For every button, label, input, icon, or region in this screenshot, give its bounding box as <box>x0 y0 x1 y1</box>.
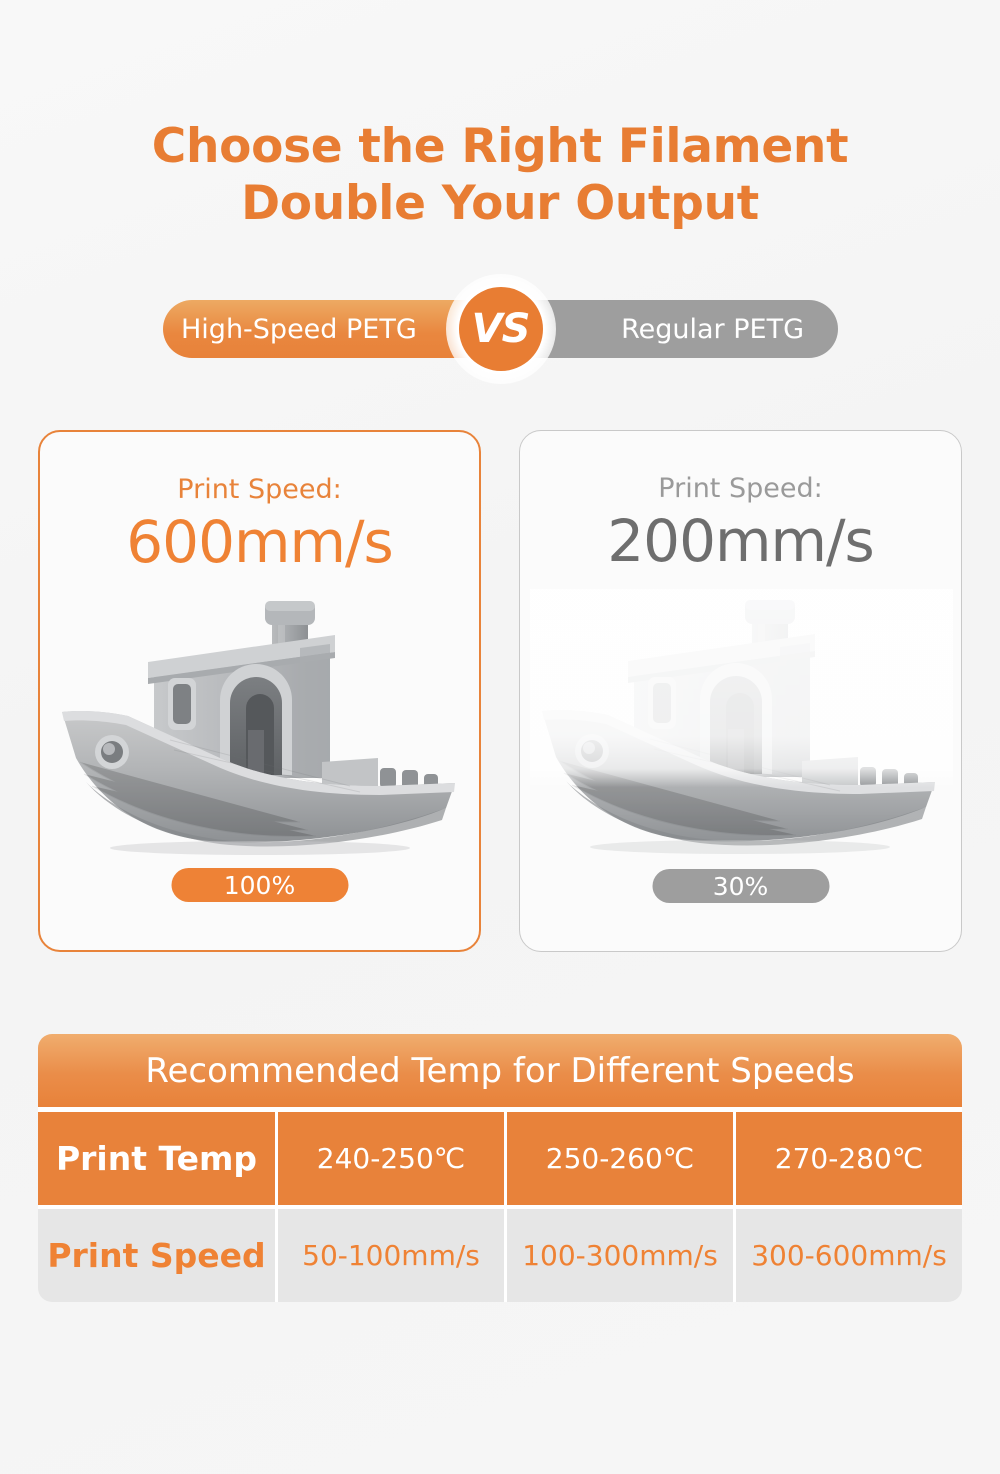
cell-print-speed-2: 100-300mm/s <box>504 1209 733 1302</box>
cell-print-speed-1: 50-100mm/s <box>275 1209 504 1302</box>
versus-bar: High-Speed PETG Regular PETG VS <box>163 300 838 358</box>
table-title: Recommended Temp for Different Speeds <box>38 1034 962 1107</box>
left-percent-label: 100% <box>224 871 295 900</box>
pill-right-label: Regular PETG <box>621 314 804 345</box>
page-title: Choose the Right Filament Double Your Ou… <box>0 118 1000 232</box>
left-percent-badge: 100% <box>171 868 348 902</box>
row-header-print-temp: Print Temp <box>38 1112 275 1205</box>
pill-left-label: High-Speed PETG <box>181 314 417 345</box>
table-row-print-temp: Print Temp 240-250℃ 250-260℃ 270-280℃ <box>38 1112 962 1205</box>
card-high-speed-petg: Print Speed: 600mm/s <box>38 430 481 952</box>
comparison-cards: Print Speed: 600mm/s <box>38 430 962 952</box>
benchy-boat-icon-right <box>530 589 953 857</box>
card-regular-petg: Print Speed: 200mm/s <box>519 430 962 952</box>
vs-badge: VS <box>459 287 543 371</box>
right-speed-value: 200mm/s <box>520 507 961 575</box>
table-row-print-speed: Print Speed 50-100mm/s 100-300mm/s 300-6… <box>38 1209 962 1302</box>
left-speed-label: Print Speed: <box>40 474 479 505</box>
left-speed-value: 600mm/s <box>40 508 479 576</box>
benchy-boat-icon-left <box>50 590 473 858</box>
right-percent-badge: 30% <box>652 869 829 903</box>
right-speed-label: Print Speed: <box>520 473 961 504</box>
recommended-temp-table: Recommended Temp for Different Speeds Pr… <box>38 1034 962 1302</box>
title-line-1: Choose the Right Filament <box>0 118 1000 175</box>
cell-print-temp-2: 250-260℃ <box>504 1112 733 1205</box>
vs-badge-label: VS <box>472 306 530 352</box>
row-header-print-speed: Print Speed <box>38 1209 275 1302</box>
cell-print-speed-3: 300-600mm/s <box>733 1209 962 1302</box>
cell-print-temp-1: 240-250℃ <box>275 1112 504 1205</box>
infographic-page: Choose the Right Filament Double Your Ou… <box>0 0 1000 1474</box>
title-line-2: Double Your Output <box>0 175 1000 232</box>
right-percent-label: 30% <box>713 872 769 901</box>
cell-print-temp-3: 270-280℃ <box>733 1112 962 1205</box>
